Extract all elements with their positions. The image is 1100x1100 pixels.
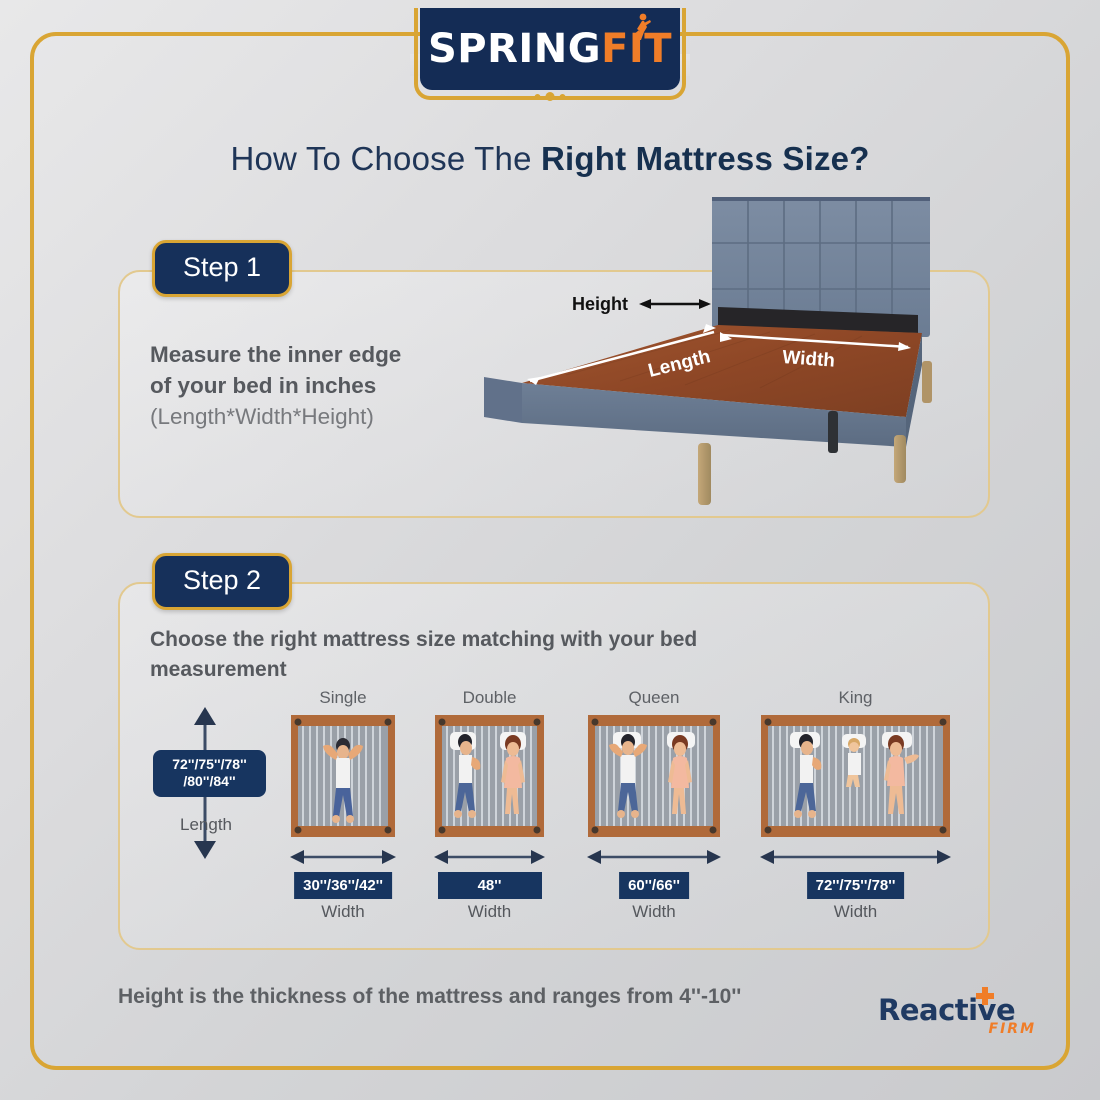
width-arrow-single [288, 848, 398, 866]
logo-plate: SPRING FIT [420, 8, 680, 90]
step-1-line-2: of your bed in inches [150, 371, 480, 402]
width-label-single: Width [321, 902, 364, 922]
step-2-instructions: Choose the right mattress size matching … [150, 625, 870, 686]
size-name-queen: Queen [585, 688, 723, 708]
length-axis-label: Length [160, 815, 252, 835]
person-figure-baby [846, 738, 861, 787]
width-arrow-queen [585, 848, 723, 866]
page-title-bold: Right Mattress Size? [541, 140, 870, 177]
mattress-illustration-single [288, 712, 398, 840]
page-title: How To Choose The Right Mattress Size? [0, 140, 1100, 178]
width-value-queen: 60''/66'' [619, 872, 689, 899]
mattress-illustration-king [758, 712, 953, 840]
width-value-double: 48'' [438, 872, 542, 899]
length-value-line-1: 72''/75''/78'' [157, 756, 262, 773]
arrow-up-icon [194, 707, 216, 725]
infographic-canvas: SPRING FIT How To Choose The Right Mattr… [0, 0, 1100, 1100]
mattress-size-columns: Single [280, 688, 970, 938]
length-gauge: 72''/75''/78'' /80''/84'' Length [160, 705, 280, 860]
size-name-double: Double [432, 688, 547, 708]
step-1-line-3: (Length*Width*Height) [150, 402, 480, 433]
logo-dot-divider [470, 92, 631, 101]
width-label-king: Width [834, 902, 877, 922]
running-figure-icon [631, 13, 651, 47]
width-value-king: 72''/75''/78'' [807, 872, 905, 899]
bed-label-width: Width [782, 347, 836, 372]
bed-label-height: Height [572, 294, 628, 314]
width-label-double: Width [468, 902, 511, 922]
size-name-single: Single [288, 688, 398, 708]
step-2-line-1: Choose the right mattress size matching … [150, 625, 870, 655]
bed-illustration: Length Width Height [470, 185, 980, 530]
width-arrow-king [758, 848, 953, 866]
step-1-line-1: Measure the inner edge [150, 340, 480, 371]
brand-logo: SPRING FIT [414, 8, 686, 100]
length-value-badge: 72''/75''/78'' /80''/84'' [153, 750, 266, 797]
step-2-badge: Step 2 [152, 553, 292, 610]
step-2-line-2: measurement [150, 655, 870, 685]
step-1-badge: Step 1 [152, 240, 292, 297]
mattress-illustration-queen [585, 712, 723, 840]
mattress-illustration-double [432, 712, 547, 840]
width-value-single: 30''/36''/42'' [294, 872, 392, 899]
logo-text-fit: FIT [601, 29, 672, 69]
length-value-line-2: /80''/84'' [157, 773, 262, 790]
reactive-firm-logo: Reactive FIRM [878, 988, 1038, 1040]
page-title-normal: How To Choose The [230, 140, 541, 177]
reactive-sub-label: FIRM [989, 1021, 1036, 1037]
bed-height-pointer [639, 299, 711, 309]
step-1-instructions: Measure the inner edge of your bed in in… [150, 340, 480, 432]
logo-text-spring: SPRING [428, 29, 601, 69]
width-label-queen: Width [632, 902, 675, 922]
plus-cross-icon [974, 986, 996, 1008]
width-arrow-double [432, 848, 547, 866]
footer-note: Height is the thickness of the mattress … [118, 985, 741, 1009]
arrow-down-icon [194, 841, 216, 859]
size-name-king: King [758, 688, 953, 708]
